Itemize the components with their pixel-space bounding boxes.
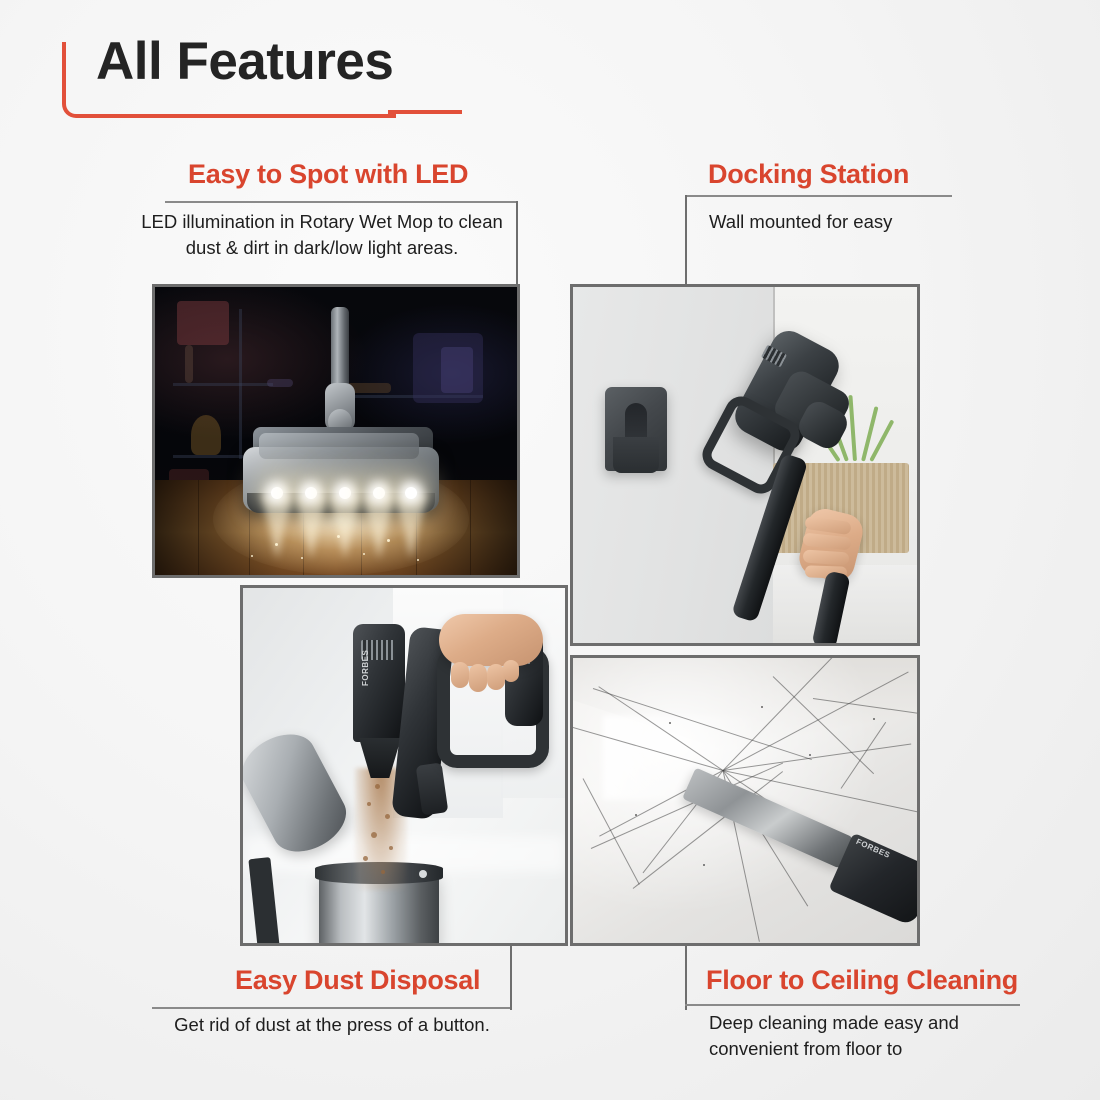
connector-rule-dock-top	[685, 195, 952, 197]
connector-rule-led-top	[165, 201, 518, 203]
feature-image-ceiling: FORBES	[570, 655, 920, 946]
feature-heading-dust: Easy Dust Disposal	[235, 965, 480, 996]
feature-body-ceiling: Deep cleaning made easy and convenient f…	[709, 1010, 1009, 1063]
connector-rule-ceiling-bottom	[685, 1004, 1020, 1006]
connector-rule-led-right	[516, 201, 518, 285]
feature-heading-led: Easy to Spot with LED	[188, 159, 468, 190]
page-title: All Features	[96, 34, 393, 90]
feature-heading-ceiling: Floor to Ceiling Cleaning	[706, 965, 1018, 996]
brand-label-dust: FORBES	[361, 650, 370, 686]
feature-body-led: LED illumination in Rotary Wet Mop to cl…	[136, 209, 508, 262]
feature-image-led	[152, 284, 520, 578]
feature-body-dock: Wall mounted for easy	[709, 209, 1009, 235]
connector-rule-dock-left	[685, 195, 687, 285]
connector-rule-dust-bottom	[152, 1007, 510, 1009]
all-features-infographic: All Features Easy to Spot with LED LED i…	[0, 0, 1100, 1100]
title-accent-underline	[388, 110, 462, 114]
page-title-block: All Features	[62, 34, 482, 134]
feature-image-dust: FORBES	[240, 585, 568, 946]
connector-rule-ceiling-left	[685, 946, 687, 1010]
feature-heading-dock: Docking Station	[708, 159, 909, 190]
feature-body-dust: Get rid of dust at the press of a button…	[140, 1012, 524, 1038]
feature-image-dock	[570, 284, 920, 646]
connector-rule-dust-right	[510, 946, 512, 1010]
